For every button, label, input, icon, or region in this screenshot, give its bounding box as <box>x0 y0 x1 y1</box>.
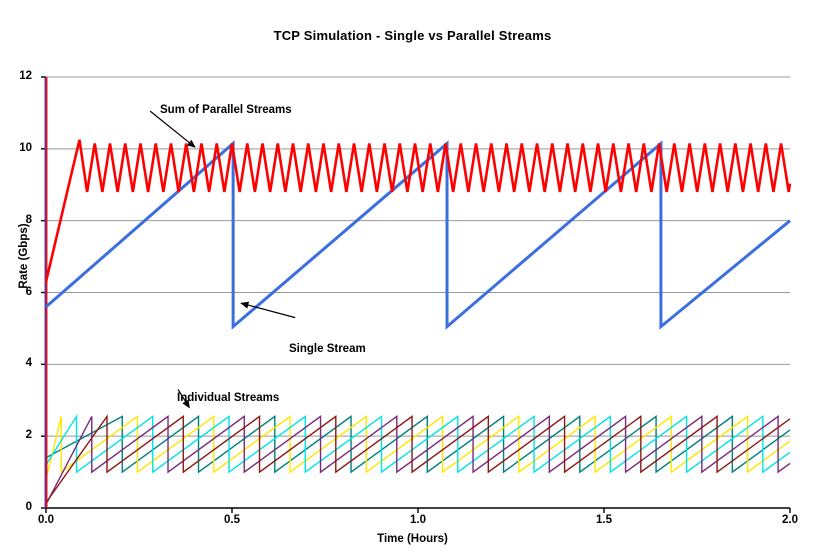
grid-lines <box>46 77 790 436</box>
series-individual-streams <box>46 416 790 504</box>
chart-figure: TCP Simulation - Single vs Parallel Stre… <box>0 0 825 560</box>
series-startup-spike <box>46 77 47 508</box>
plot-canvas <box>0 0 825 560</box>
